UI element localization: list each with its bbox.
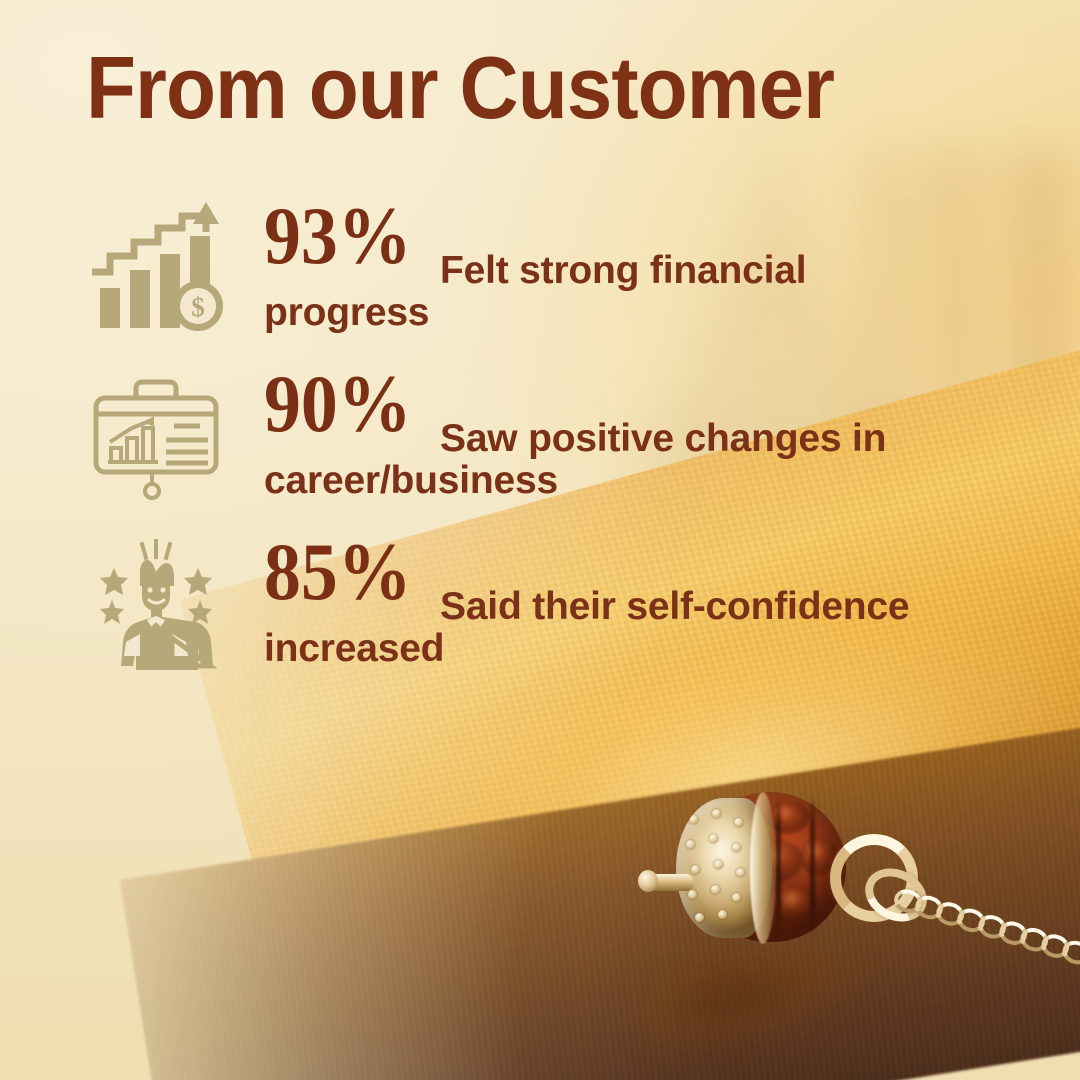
- stat-body: 93% Felt strong financial progress: [264, 196, 966, 334]
- stat-row: $ 93% Felt strong financial progress: [86, 196, 966, 364]
- bar-chart-growth-dollar-icon: $: [86, 202, 226, 334]
- stat-body: 85% Said their self-confidence increased: [264, 532, 966, 670]
- presentation-board-chart-icon: [86, 370, 226, 502]
- stat-percent: 93%: [264, 198, 412, 273]
- stat-percent: 90%: [264, 366, 412, 441]
- svg-text:$: $: [191, 292, 205, 322]
- confident-person-stars-icon: [86, 538, 226, 670]
- page-title: From our Customer: [86, 44, 834, 132]
- stat-row: 90% Saw positive changes in career/busin…: [86, 364, 966, 532]
- stat-body: 90% Saw positive changes in career/busin…: [264, 364, 966, 502]
- testimonial-stats-poster: From our Customer: [0, 0, 1080, 1080]
- stats-list: $ 93% Felt strong financial progress: [86, 196, 966, 700]
- stat-percent: 85%: [264, 534, 412, 609]
- poster-content: From our Customer: [0, 0, 1080, 1080]
- stat-row: 85% Said their self-confidence increased: [86, 532, 966, 700]
